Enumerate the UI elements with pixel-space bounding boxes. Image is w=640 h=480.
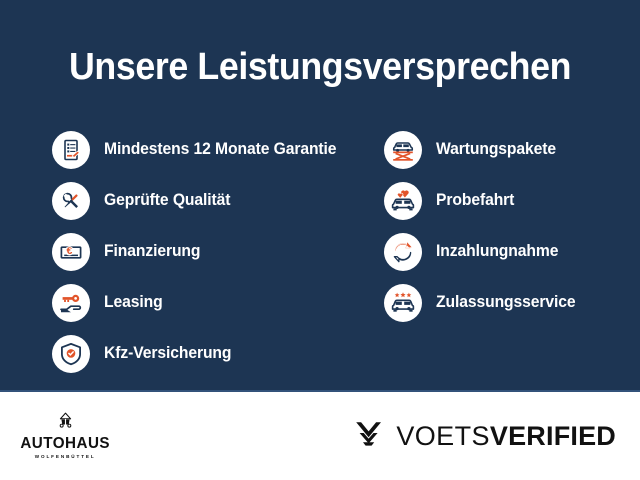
features-column-right: Wartungspakete xyxy=(384,124,634,379)
feature-item-versicherung: Kfz-Versicherung xyxy=(52,328,384,379)
voets-word-light: VOETS xyxy=(396,421,490,451)
feature-label: Kfz-Versicherung xyxy=(104,344,231,363)
autohaus-emblem-icon xyxy=(57,412,74,433)
feature-label: Leasing xyxy=(104,293,163,312)
panel-bottom-rule xyxy=(0,390,640,392)
car-hearts-icon xyxy=(384,182,422,220)
promise-banner: Unsere Leistungsversprechen xyxy=(0,0,640,480)
page-title: Unsere Leistungsversprechen xyxy=(19,0,621,86)
feature-item-garantie: Mindestens 12 Monate Garantie xyxy=(52,124,384,175)
autohaus-logo[interactable]: AUTOHAUS WOLFENBÜTTEL xyxy=(18,412,112,460)
feature-item-probefahrt: Probefahrt xyxy=(384,175,634,226)
footer-bar: AUTOHAUS WOLFENBÜTTEL VOETSVERIFIED xyxy=(0,392,640,480)
feature-item-finanzierung: € Finanzierung xyxy=(52,226,384,277)
feature-label: Mindestens 12 Monate Garantie xyxy=(104,140,336,159)
features-column-left: Mindestens 12 Monate Garantie xyxy=(52,124,384,379)
feature-label: Finanzierung xyxy=(104,242,200,261)
feature-item-zulassungsservice: Zulassungsservice xyxy=(384,277,634,328)
autohaus-location: WOLFENBÜTTEL xyxy=(35,455,96,460)
feature-label: Geprüfte Qualität xyxy=(104,191,230,210)
feature-item-wartungspakete: Wartungspakete xyxy=(384,124,634,175)
certificate-document-icon xyxy=(52,131,90,169)
voets-chevron-icon xyxy=(353,419,385,454)
wrench-screwdriver-icon xyxy=(52,182,90,220)
promises-panel: Unsere Leistungsversprechen xyxy=(0,0,640,392)
feature-item-leasing: Leasing xyxy=(52,277,384,328)
feature-item-inzahlungnahme: Inzahlungnahme xyxy=(384,226,634,277)
voets-word-bold: VERIFIED xyxy=(490,421,616,451)
banknote-euro-icon: € xyxy=(52,233,90,271)
feature-label: Wartungspakete xyxy=(436,140,556,159)
feature-label: Probefahrt xyxy=(436,191,514,210)
voets-verified-logo[interactable]: VOETSVERIFIED xyxy=(353,419,616,454)
car-lift-icon xyxy=(384,131,422,169)
shield-check-icon xyxy=(52,335,90,373)
feature-item-qualitaet: Geprüfte Qualität xyxy=(52,175,384,226)
feature-label: Zulassungsservice xyxy=(436,293,576,312)
hand-key-icon xyxy=(52,284,90,322)
features-columns: Mindestens 12 Monate Garantie xyxy=(0,124,640,379)
exchange-arrows-icon xyxy=(384,233,422,271)
feature-label: Inzahlungnahme xyxy=(436,242,558,261)
voets-wordmark: VOETSVERIFIED xyxy=(396,423,616,450)
car-stars-icon xyxy=(384,284,422,322)
autohaus-wordmark: AUTOHAUS xyxy=(20,436,110,452)
